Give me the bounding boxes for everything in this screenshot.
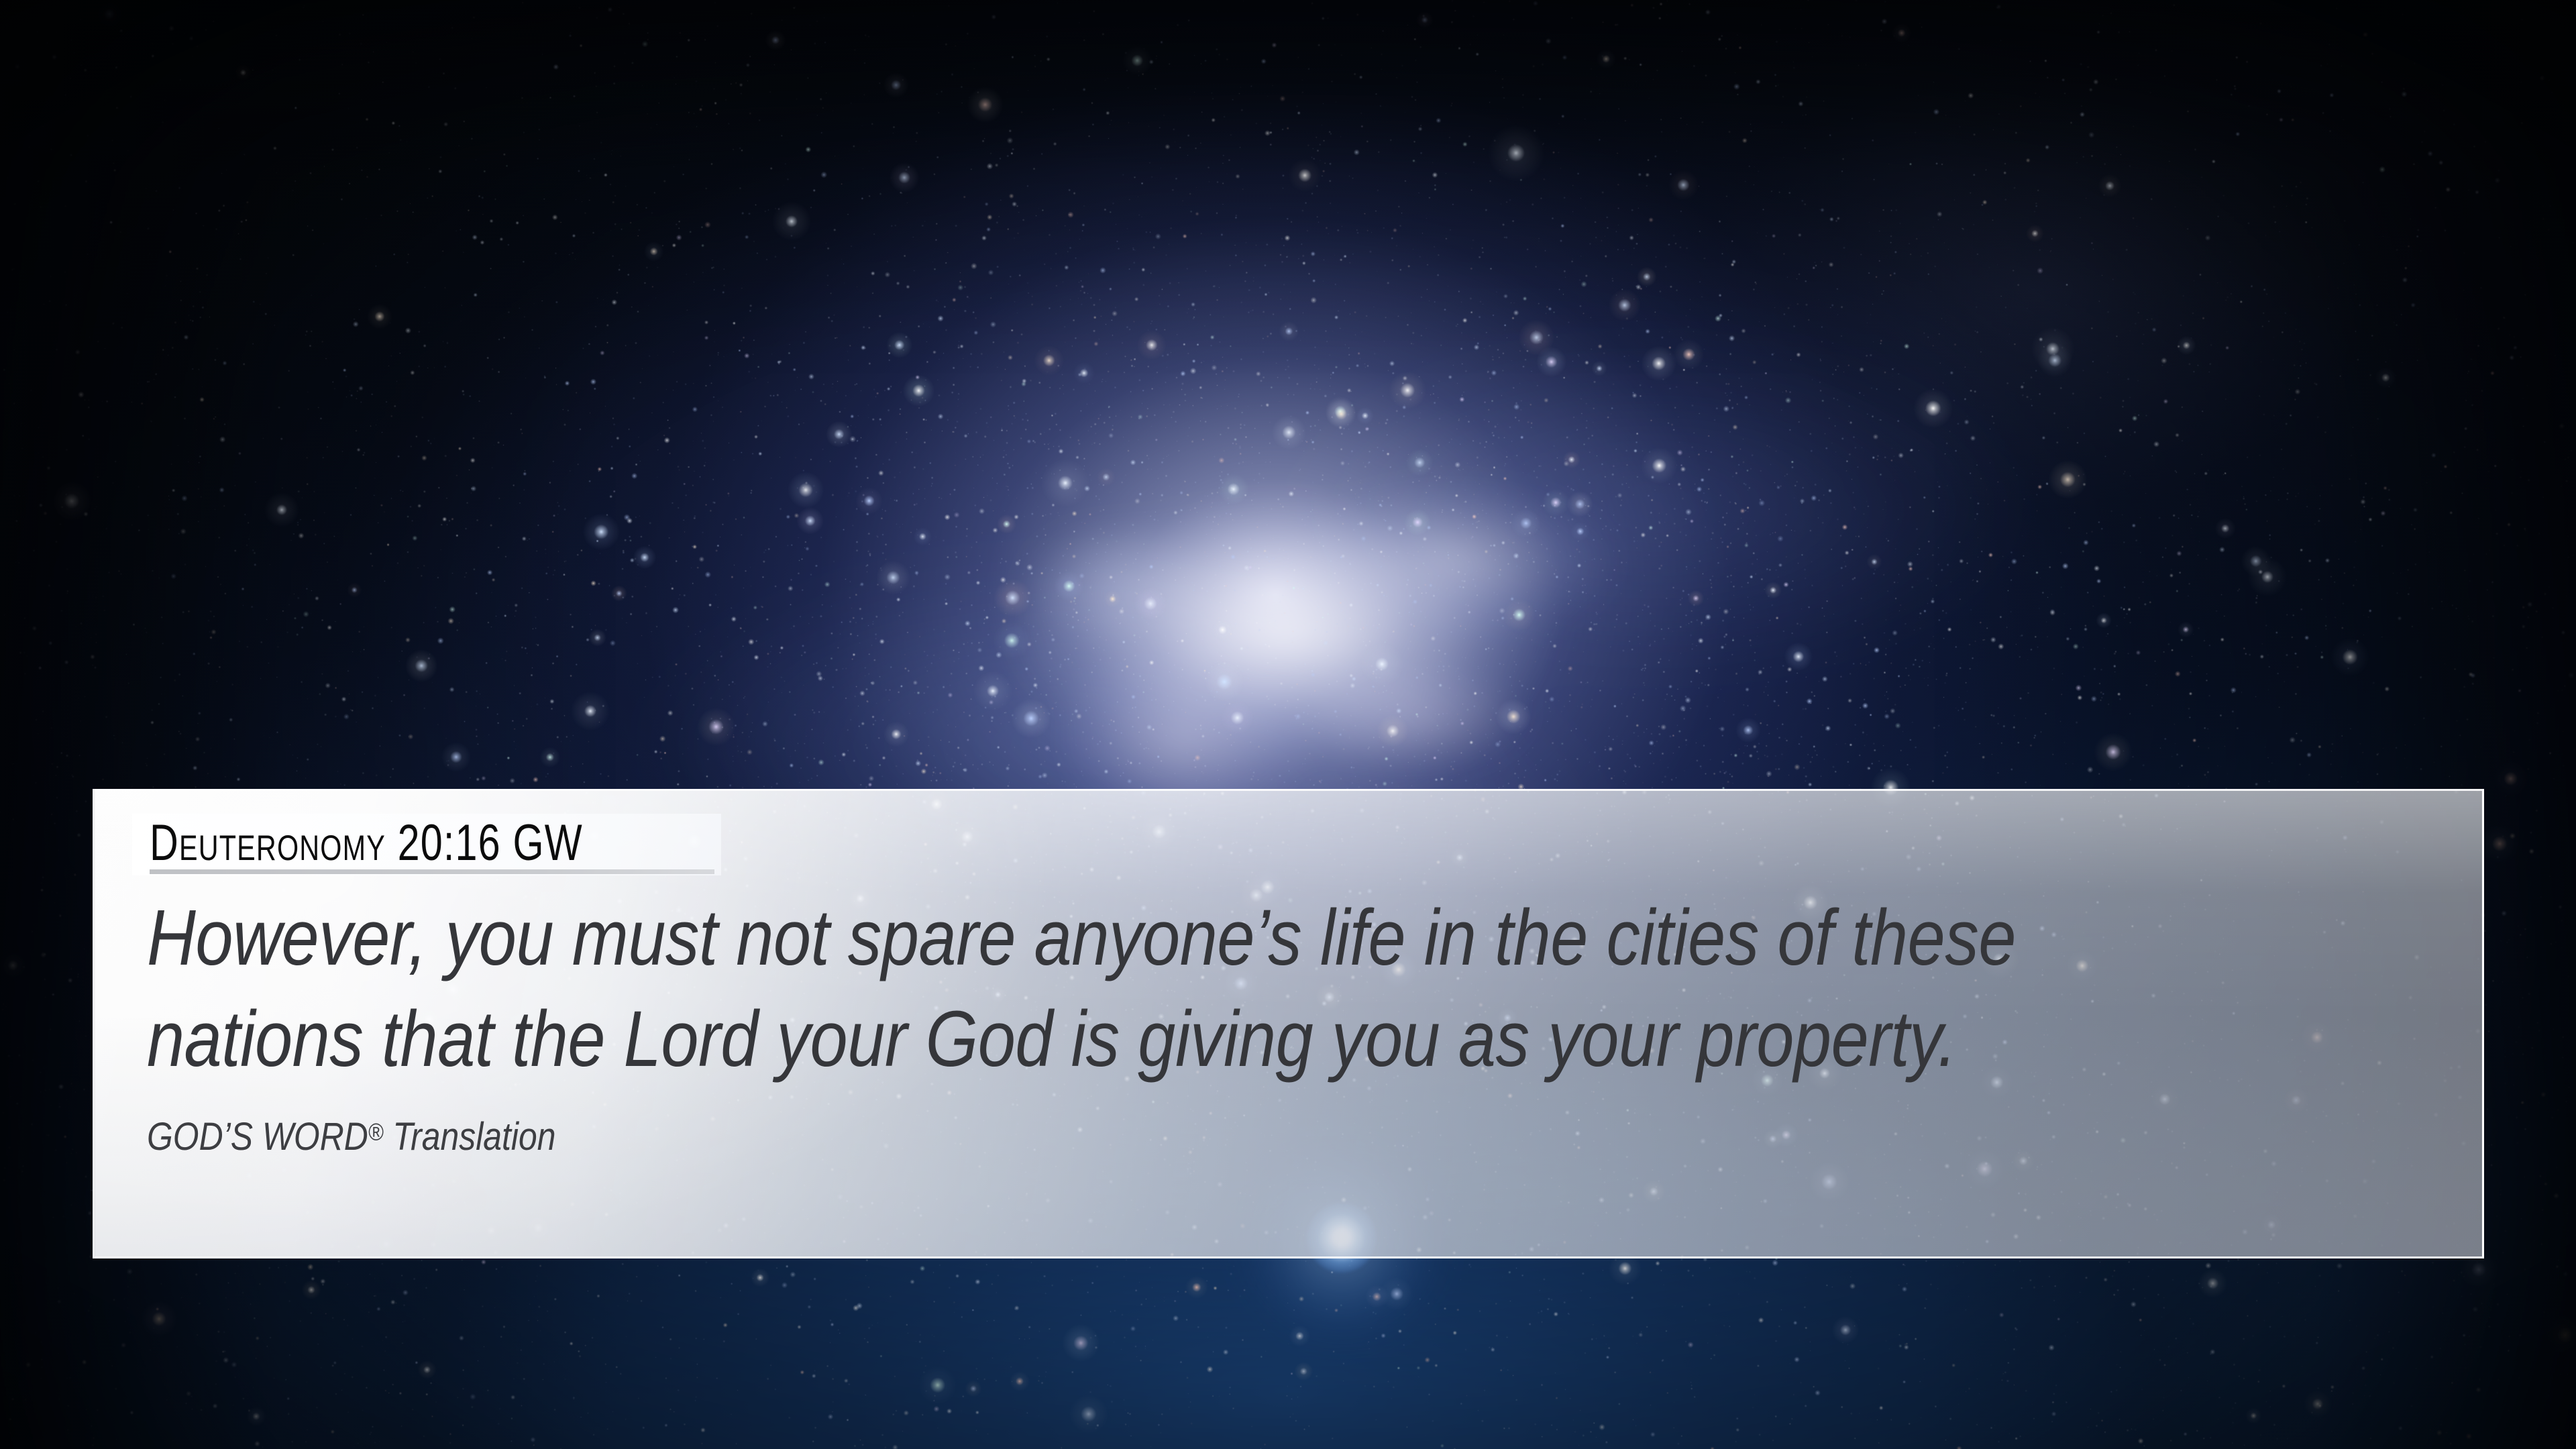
verse-reference-underline [150,869,714,874]
verse-text-line-1: However, you must not spare anyone’s lif… [147,894,2016,982]
quote-card: Deuteronomy 20:16 GW However, you must n… [93,789,2484,1258]
attribution-suffix: Translation [384,1115,556,1159]
verse-image-canvas: Deuteronomy 20:16 GW However, you must n… [0,0,2576,1449]
verse-reference-box: Deuteronomy 20:16 GW [132,814,721,875]
attribution-name: GOD’S WORD [147,1115,368,1159]
quote-card-content: Deuteronomy 20:16 GW However, you must n… [95,791,2482,1256]
registered-trademark-icon: ® [368,1118,384,1146]
translation-attribution: GOD’S WORD® Translation [147,1116,2155,1159]
verse-text: However, you must not spare anyone’s lif… [147,888,2131,1090]
verse-reference-label: Deuteronomy 20:16 GW [150,818,583,869]
verse-text-line-2: nations that the Lord your God is giving… [147,995,1956,1083]
